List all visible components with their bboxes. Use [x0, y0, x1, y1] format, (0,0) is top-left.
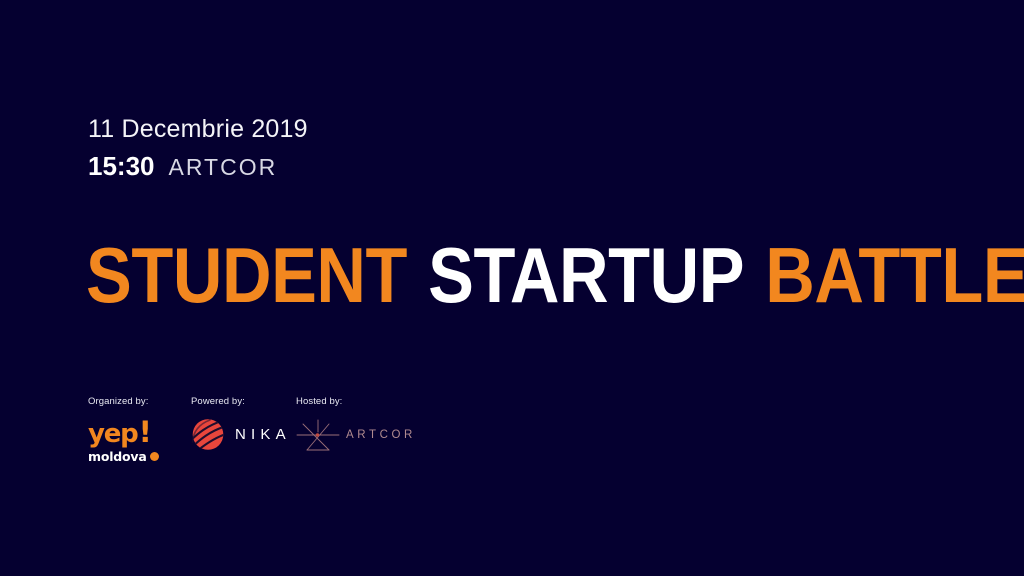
artcor-star-icon — [296, 414, 340, 456]
artcor-wordmark: ARTCOR — [346, 429, 416, 441]
sponsor-organized-by: Organized by: yep ! moldova — [88, 396, 191, 464]
artcor-logo[interactable]: ARTCOR — [296, 414, 416, 456]
yep-moldova-logo[interactable]: yep ! moldova — [88, 418, 159, 464]
yep-subwordmark-row: moldova — [88, 449, 159, 464]
event-time: 15:30 — [88, 151, 155, 182]
yep-exclamation-icon: ! — [139, 418, 152, 447]
event-poster: 11 Decembrie 2019 15:30 ARTCOR STUDENTST… — [0, 0, 1024, 576]
yep-wordmark-row: yep ! — [88, 418, 159, 447]
sponsor-label-organized: Organized by: — [88, 396, 148, 407]
sponsor-powered-by: Powered by: NIKA — [191, 396, 296, 451]
orange-dot-icon — [150, 452, 159, 461]
event-date: 11 Decembrie 2019 — [88, 113, 308, 145]
title-word-student: STUDENT — [86, 236, 407, 314]
sponsor-label-hosted: Hosted by: — [296, 396, 342, 407]
sponsor-label-powered: Powered by: — [191, 396, 245, 407]
title-word-battle: BATTLE — [765, 236, 1024, 314]
event-venue: ARTCOR — [169, 154, 278, 181]
moldova-wordmark: moldova — [88, 449, 147, 464]
sponsor-row: Organized by: yep ! moldova Powered by: — [88, 396, 436, 464]
sponsor-hosted-by: Hosted by: ARTCOR — [296, 396, 436, 456]
event-time-venue: 15:30 ARTCOR — [88, 151, 308, 182]
nika-swoosh-icon — [191, 418, 225, 451]
nika-wordmark: NIKA — [235, 426, 291, 443]
nika-logo[interactable]: NIKA — [191, 418, 291, 451]
yep-wordmark: yep — [88, 421, 138, 447]
page-title: STUDENTSTARTUPBATTLE — [86, 236, 1024, 314]
title-word-startup: STARTUP — [428, 236, 744, 314]
event-meta: 11 Decembrie 2019 15:30 ARTCOR — [88, 113, 308, 182]
